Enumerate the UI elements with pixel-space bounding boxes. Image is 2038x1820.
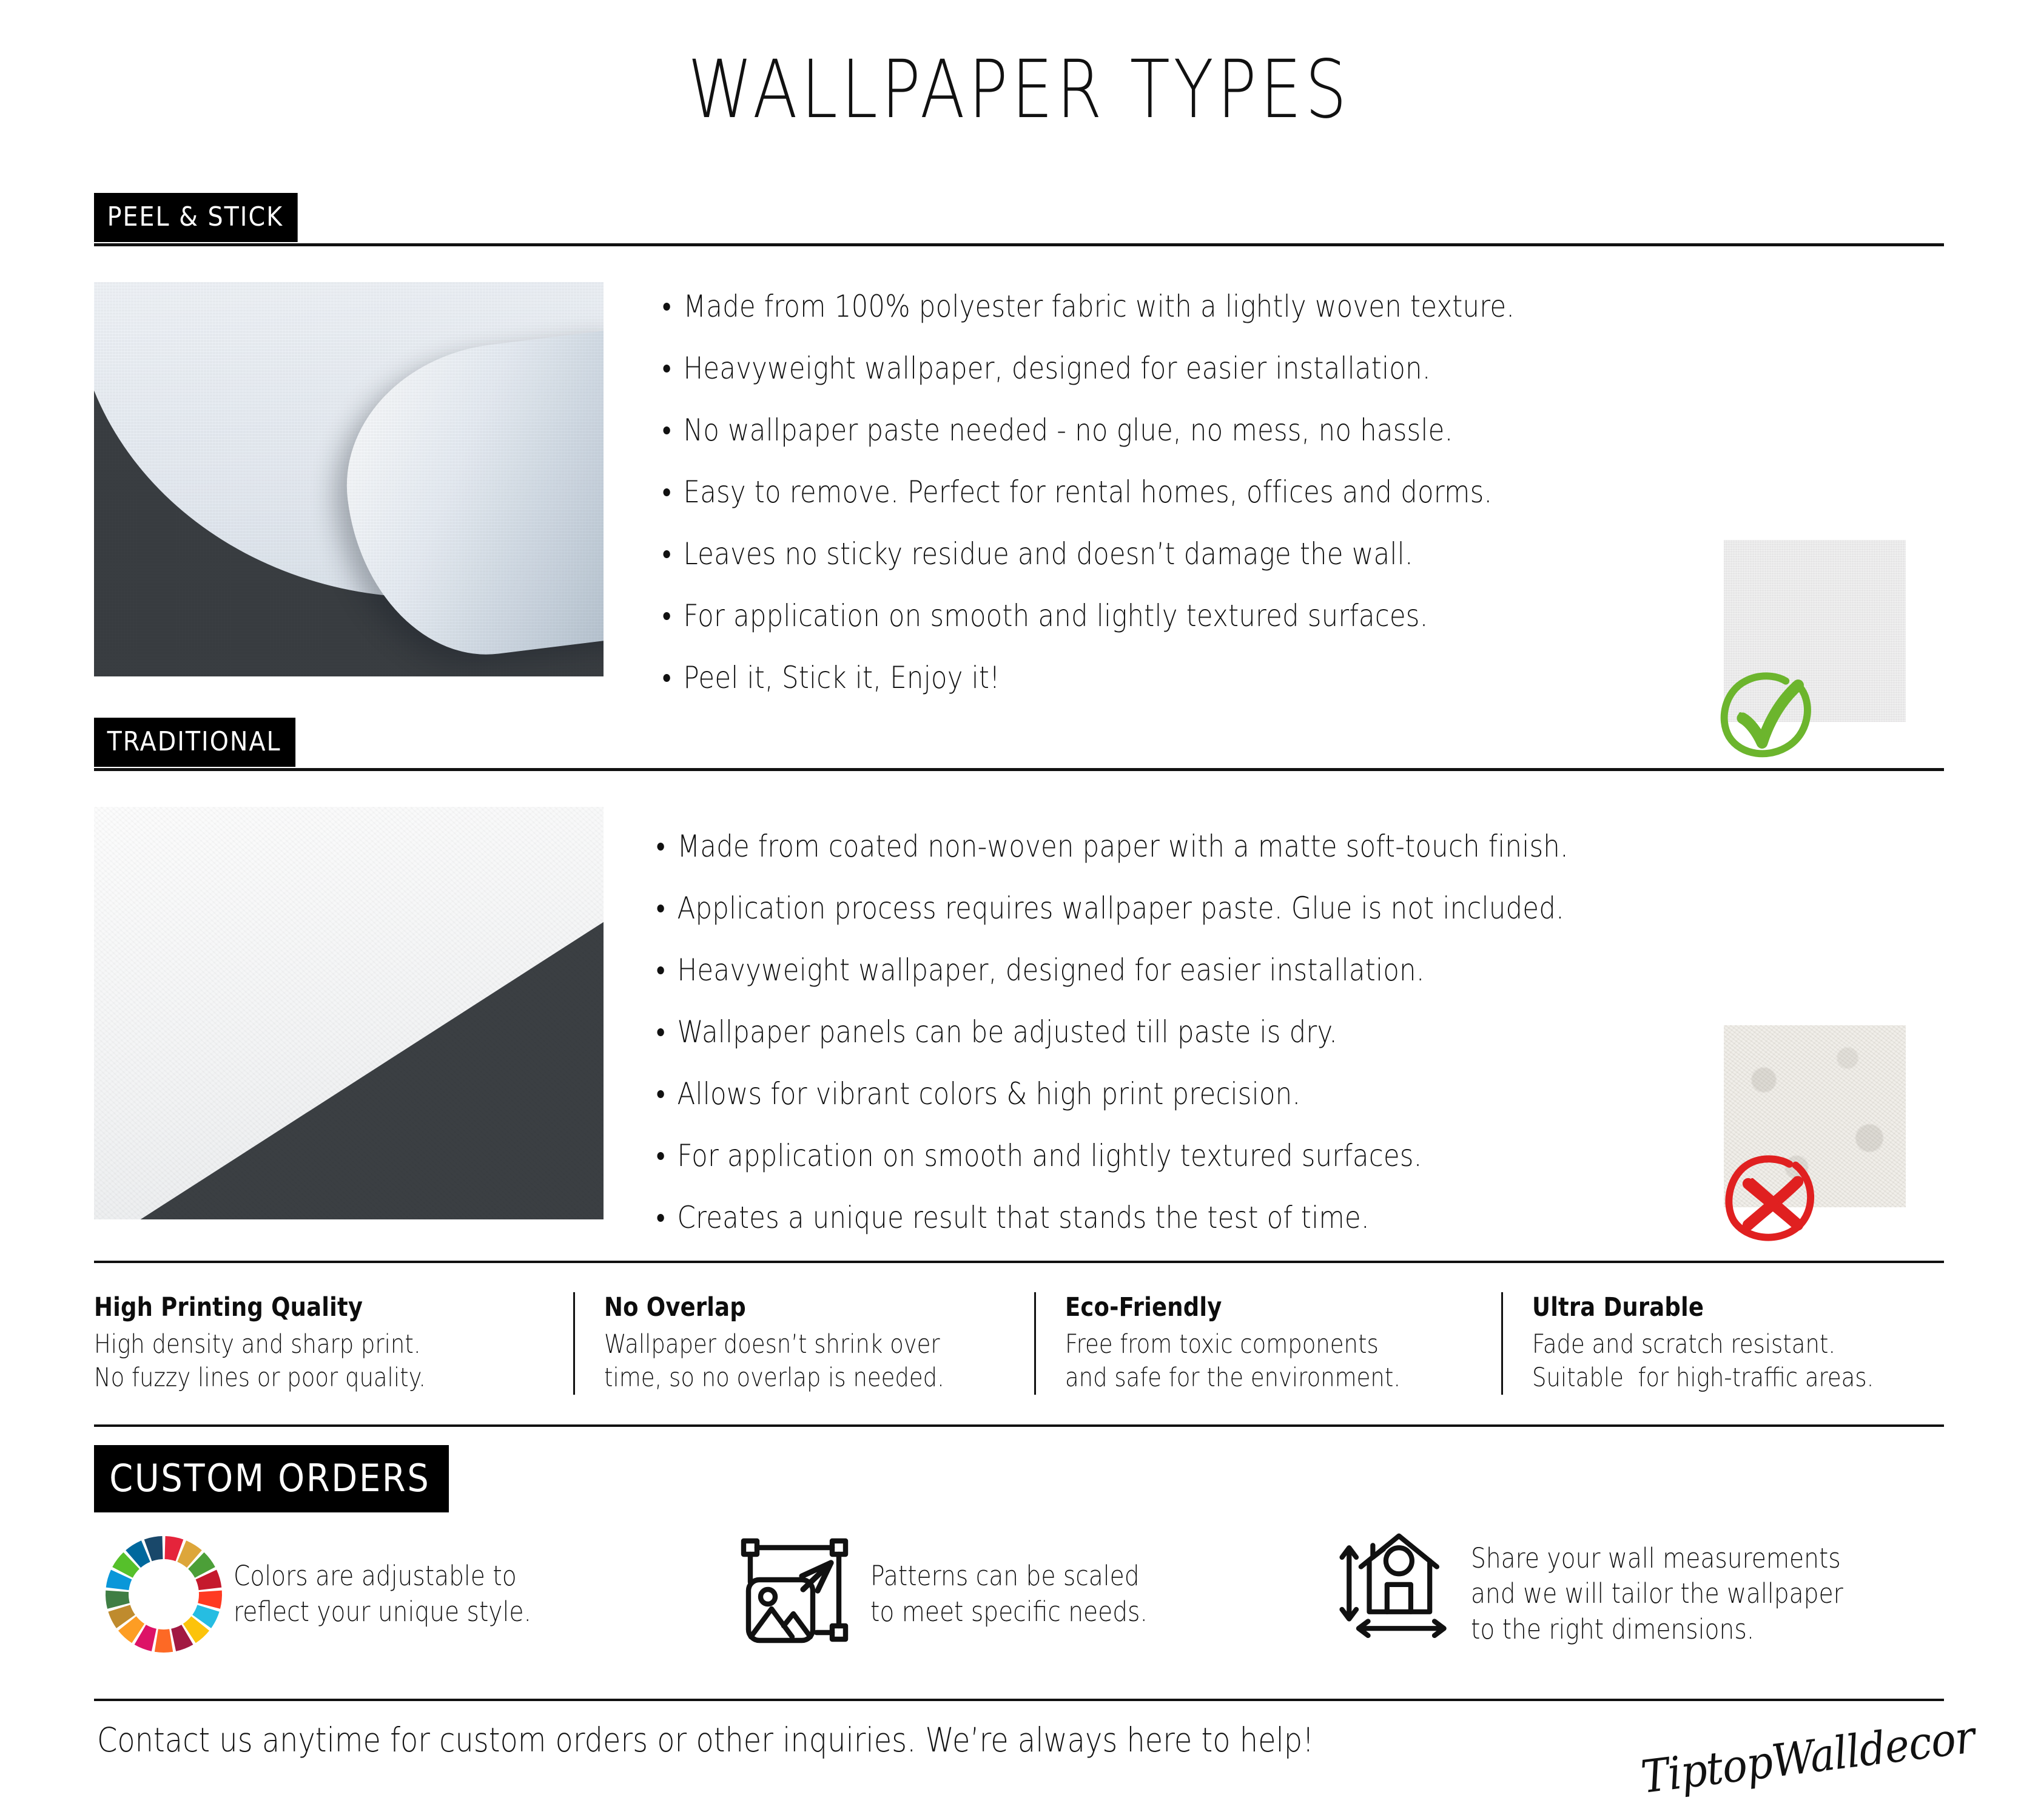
text-line-1: Share your wall measurements	[1471, 1541, 1843, 1577]
feature-high-printing-quality: High Printing Quality High density and s…	[94, 1292, 573, 1395]
page-title: WALLPAPER TYPES	[183, 50, 1854, 130]
list-item: Heavyweight wallpaper, designed for easi…	[661, 353, 1590, 383]
custom-order-text: Colors are adjustable to reflect your un…	[234, 1559, 576, 1630]
text-line-2: reflect your unique style.	[234, 1594, 531, 1630]
feature-title: High Printing Quality	[94, 1292, 488, 1323]
section-heading-custom-orders: CUSTOM ORDERS	[94, 1445, 488, 1512]
section-heading-traditional: TRADITIONAL	[94, 718, 318, 767]
custom-order-measurements: Share your wall measurements and we will…	[1319, 1529, 1944, 1659]
feature-line-1: Free from toxic components	[1065, 1328, 1422, 1361]
section-chip-label: PEEL & STICK	[94, 193, 297, 242]
feature-title: Ultra Durable	[1532, 1292, 1869, 1323]
section-rule-peel-stick	[94, 243, 1944, 246]
photo-woven-texture-overlay	[94, 282, 604, 676]
custom-order-scale: Patterns can be scaled to meet specific …	[719, 1529, 1319, 1659]
feature-line-1: Fade and scratch resistant.	[1532, 1328, 1869, 1361]
section-chip-label: TRADITIONAL	[94, 718, 295, 767]
features-top-rule	[94, 1261, 1944, 1263]
list-item: Leaves no sticky residue and doesn’t dam…	[661, 539, 1590, 569]
section-heading-peel-stick: PEEL & STICK	[94, 193, 320, 242]
custom-order-text: Patterns can be scaled to meet specific …	[870, 1559, 1189, 1630]
feature-ultra-durable: Ultra Durable Fade and scratch resistant…	[1501, 1292, 1944, 1395]
brand-signature: TiptopWalldecor	[1638, 1711, 1977, 1804]
photo-paper-grain-overlay	[94, 807, 604, 1219]
peel-stick-bullet-list: Made from 100% polyester fabric with a l…	[661, 291, 1729, 693]
list-item: No wallpaper paste needed - no glue, no …	[661, 415, 1590, 445]
list-item: Made from coated non-woven paper with a …	[655, 831, 1621, 861]
feature-line-2: and safe for the environment.	[1065, 1361, 1422, 1395]
features-bottom-rule	[94, 1424, 1944, 1427]
feature-no-overlap: No Overlap Wallpaper doesn’t shrink over…	[573, 1292, 1034, 1395]
list-item: Application process requires wallpaper p…	[655, 893, 1621, 923]
list-item: Made from 100% polyester fabric with a l…	[661, 291, 1590, 322]
feature-title: No Overlap	[604, 1292, 957, 1323]
custom-order-text: Share your wall measurements and we will…	[1471, 1541, 1898, 1648]
text-line-1: Colors are adjustable to	[234, 1559, 531, 1594]
feature-line-2: Suitable for high-traffic areas.	[1532, 1361, 1869, 1395]
color-wheel-icon	[94, 1534, 234, 1655]
list-item: For application on smooth and lightly te…	[661, 601, 1590, 631]
color-wheel-segment	[106, 1590, 130, 1608]
features-row: High Printing Quality High density and s…	[94, 1292, 1944, 1395]
list-item: Heavyweight wallpaper, designed for easi…	[655, 955, 1621, 985]
list-item: Allows for vibrant colors & high print p…	[655, 1079, 1621, 1109]
list-item: For application on smooth and lightly te…	[655, 1141, 1621, 1171]
feature-title: Eco-Friendly	[1065, 1292, 1422, 1323]
feature-line-1: Wallpaper doesn’t shrink over	[604, 1328, 957, 1361]
section-rule-traditional	[94, 768, 1944, 771]
traditional-sample-photo	[94, 807, 604, 1219]
feature-line-2: No fuzzy lines or poor quality.	[94, 1361, 488, 1395]
infographic-page: WALLPAPER TYPES PEEL & STICK Made from 1…	[0, 0, 2038, 1820]
text-line-1: Patterns can be scaled	[870, 1559, 1148, 1594]
list-item: Wallpaper panels can be adjusted till pa…	[655, 1017, 1621, 1047]
color-wheel-segment	[155, 1629, 173, 1653]
custom-orders-items: Colors are adjustable to reflect your un…	[94, 1529, 1944, 1659]
footer-contact-text: Contact us anytime for custom orders or …	[97, 1721, 1416, 1759]
house-dimensions-icon	[1319, 1529, 1471, 1659]
color-wheel-segment	[198, 1590, 222, 1608]
feature-eco-friendly: Eco-Friendly Free from toxic components …	[1034, 1292, 1501, 1395]
feature-line-1: High density and sharp print.	[94, 1328, 488, 1361]
red-cross-icon	[1721, 1147, 1824, 1250]
peel-stick-sample-photo	[94, 282, 604, 676]
section-chip-label: CUSTOM ORDERS	[94, 1445, 449, 1512]
text-line-3: to the right dimensions.	[1471, 1612, 1843, 1648]
text-line-2: to meet specific needs.	[870, 1594, 1148, 1630]
footer-rule	[94, 1699, 1944, 1701]
list-item: Peel it, Stick it, Enjoy it!	[661, 662, 1590, 693]
list-item: Easy to remove. Perfect for rental homes…	[661, 477, 1590, 507]
scale-image-icon	[719, 1534, 870, 1655]
custom-order-colors: Colors are adjustable to reflect your un…	[94, 1529, 719, 1659]
list-item: Creates a unique result that stands the …	[655, 1202, 1621, 1233]
feature-line-2: time, so no overlap is needed.	[604, 1361, 957, 1395]
green-check-icon	[1718, 662, 1821, 766]
traditional-bullet-list: Made from coated non-woven paper with a …	[655, 831, 1765, 1233]
text-line-2: and we will tailor the wallpaper	[1471, 1576, 1843, 1612]
